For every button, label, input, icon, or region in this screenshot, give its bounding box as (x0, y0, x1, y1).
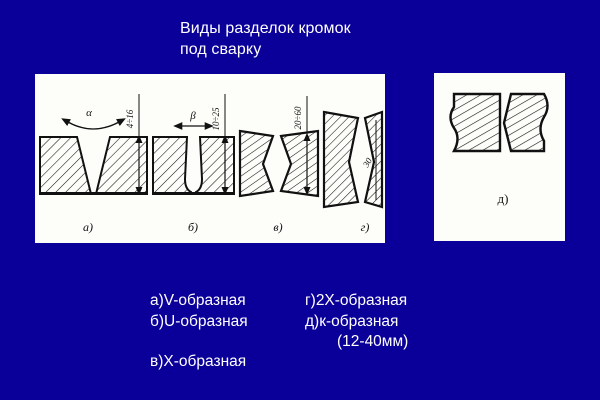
v-groove-dimension: 4÷16 (125, 109, 135, 128)
legend-column-left: а)V-образная б)U-образная в)Х-образная (150, 291, 248, 373)
figure-double-x-groove: 30 г) (324, 112, 382, 234)
alpha-symbol: α (86, 107, 92, 119)
u-groove-right-block (196, 137, 234, 194)
u-groove-root-bar (153, 192, 234, 195)
caption-d: д) (498, 191, 509, 206)
x-groove-dimension: 20÷60 (293, 106, 303, 129)
v-groove-root-bar (40, 192, 147, 195)
page-title: Виды разделок кромок под сварку (180, 18, 540, 60)
x-groove-left-block (240, 131, 273, 196)
legend-item-v: в)Х-образная (150, 352, 248, 373)
u-groove-left-block (153, 137, 191, 194)
figure-v-groove: α 4÷16 а) (40, 94, 147, 234)
figure-x-groove: 20÷60 в) (240, 96, 318, 234)
x-groove-right-block (281, 131, 318, 196)
k-groove-right-block (504, 94, 548, 151)
figure-u-groove: β 10÷25 б) (153, 94, 234, 234)
diagram-panel-main: α 4÷16 а) β 10÷25 б) (35, 74, 385, 243)
caption-b: б) (188, 220, 198, 234)
double-x-left-block (324, 112, 358, 207)
caption-v: в) (273, 220, 282, 234)
legend-item-a: а)V-образная (150, 291, 248, 312)
diagram-panel-side: д) (434, 73, 565, 241)
v-groove-left-block (40, 137, 91, 194)
legend-block: а)V-образная б)U-образная в)Х-образная г… (0, 291, 600, 391)
k-groove-left-block (451, 94, 501, 151)
legend-item-thickness: (12-40мм) (305, 332, 408, 353)
legend-column-right: г)2Х-образная д)к-образная (12-40мм) (305, 291, 408, 353)
alpha-angle-arc (68, 122, 119, 129)
slide-root: Виды разделок кромок под сварку (0, 0, 600, 400)
legend-item-g: г)2Х-образная (305, 291, 408, 312)
caption-g: г) (361, 220, 370, 234)
u-groove-dimension: 10÷25 (211, 107, 221, 130)
beta-symbol: β (189, 110, 196, 122)
legend-item-b: б)U-образная (150, 312, 248, 333)
legend-item-d: д)к-образная (305, 312, 408, 333)
caption-a: а) (83, 220, 93, 234)
figure-k-groove: д) (451, 94, 548, 206)
